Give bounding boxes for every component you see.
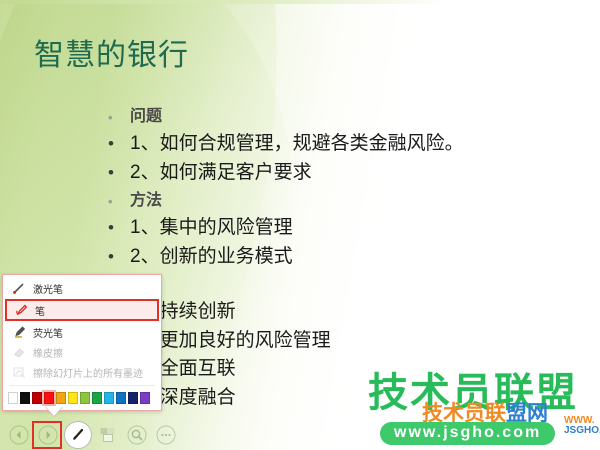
zoom-button[interactable] — [124, 422, 150, 448]
color-swatch-cyan[interactable] — [104, 392, 114, 404]
menu-item-label: 笔 — [31, 303, 45, 318]
pen-tools-popup-menu[interactable]: 激光笔 笔 荧光笔 — [2, 274, 162, 411]
chevron-right-icon — [38, 425, 58, 445]
bullet-item: 2、创新的业务模式 — [104, 243, 574, 272]
color-swatch-black[interactable] — [20, 392, 30, 404]
pen-icon — [68, 425, 88, 445]
color-swatch-purple[interactable] — [140, 392, 150, 404]
ink-color-palette[interactable] — [3, 390, 161, 406]
menu-item-erase-all-ink: 擦除幻灯片上的所有墨迹 — [3, 362, 161, 382]
magnifier-icon — [127, 425, 147, 445]
bullet-item: 3、全面互联 — [104, 355, 574, 384]
color-swatch-red[interactable] — [44, 392, 54, 404]
bullet-item: 目标 — [104, 271, 574, 298]
all-slides-button[interactable] — [95, 422, 121, 448]
color-swatch-yellow[interactable] — [68, 392, 78, 404]
color-swatch-orange[interactable] — [56, 392, 66, 404]
erase-all-ink-icon — [9, 364, 29, 380]
slide-title: 智慧的银行 — [34, 36, 189, 76]
bullet-item: 1、持续创新 — [104, 298, 574, 327]
chevron-left-icon — [9, 425, 29, 445]
more-options-button[interactable] — [153, 422, 179, 448]
laser-pointer-icon — [9, 280, 29, 296]
color-swatch-white[interactable] — [8, 392, 18, 404]
menu-item-pen[interactable]: 笔 — [5, 299, 159, 321]
color-swatch-dark-blue[interactable] — [128, 392, 138, 404]
slideshow-control-bar — [0, 420, 600, 450]
popup-caret — [45, 406, 63, 416]
color-swatch-green[interactable] — [92, 392, 102, 404]
grid-slides-icon — [98, 425, 118, 445]
presentation-slideshow-window: 智慧的银行 问题 1、如何合规管理，规避各类金融风险。 2、如何满足客户要求 方… — [0, 0, 600, 450]
bullet-item: 问题 — [104, 103, 574, 130]
bullet-item: 2、更加良好的风险管理 — [104, 327, 574, 356]
menu-item-label: 擦除幻灯片上的所有墨迹 — [29, 365, 143, 380]
eraser-icon — [9, 344, 29, 360]
previous-slide-button[interactable] — [6, 422, 32, 448]
menu-item-label: 荧光笔 — [29, 325, 63, 340]
bullet-item: 1、集中的风险管理 — [104, 214, 574, 243]
pen-tools-button[interactable] — [64, 421, 92, 449]
bullet-item: 方法 — [104, 187, 574, 214]
bullet-item: 2、如何满足客户要求 — [104, 159, 574, 188]
color-swatch-light-green[interactable] — [80, 392, 90, 404]
bullet-item: 4、深度融合 — [104, 384, 574, 413]
slide-body-bullet-list: 问题 1、如何合规管理，规避各类金融风险。 2、如何满足客户要求 方法 1、集中… — [104, 103, 574, 412]
menu-item-label: 激光笔 — [29, 281, 63, 296]
bullet-item: 1、如何合规管理，规避各类金融风险。 — [104, 130, 574, 159]
menu-item-highlighter[interactable]: 荧光笔 — [3, 322, 161, 342]
menu-item-label: 橡皮擦 — [29, 345, 63, 360]
ellipsis-icon — [156, 425, 176, 445]
pen-icon — [11, 302, 31, 318]
menu-divider — [9, 385, 155, 386]
highlighter-icon — [9, 324, 29, 340]
color-swatch-dark-red[interactable] — [32, 392, 42, 404]
menu-item-eraser: 橡皮擦 — [3, 342, 161, 362]
menu-item-laser-pointer[interactable]: 激光笔 — [3, 278, 161, 298]
next-slide-button[interactable] — [35, 422, 61, 448]
background-top-edge — [0, 0, 600, 4]
color-swatch-blue[interactable] — [116, 392, 126, 404]
